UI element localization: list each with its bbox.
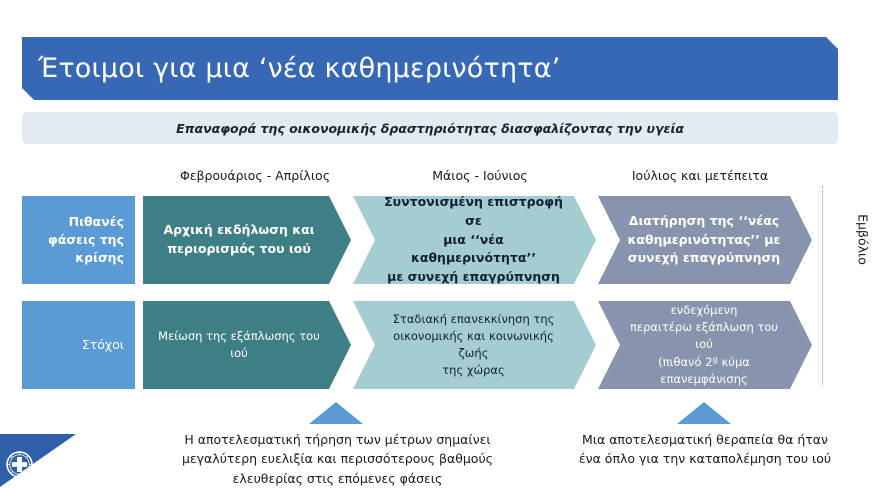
subtitle-band: Επαναφορά της οικονομικής δραστηριότητας… bbox=[22, 112, 838, 144]
phase-cell-r1c3-line-3: συνεχή επαγρύπνηση bbox=[628, 249, 781, 268]
footnote-right: Μια αποτελεσματική θεραπεία θα ήταν ένα … bbox=[545, 430, 865, 469]
greek-coat-of-arms-icon bbox=[6, 451, 33, 478]
goal-cell-r2c2: Σταδιακή επανεκκίνηση της οικονομικής κα… bbox=[353, 301, 596, 389]
row-label-phases-line-3: κρίσης bbox=[48, 249, 124, 267]
phase-cell-r1c2-line-1: Συντονισμένη επιστροφή σε bbox=[381, 193, 566, 231]
phase-cell-r1c1-line-2: περιορισμός του ιού bbox=[163, 240, 314, 259]
goal-cell-r2c3: Προστασία για μια ενδεχόμενη περαιτέρω ε… bbox=[598, 301, 812, 389]
phase-cell-r1c3-text: Διατήρηση της ‘‘νέας καθημερινότητας’’ μ… bbox=[628, 212, 781, 268]
phase-cell-r1c2-line-2: μια ‘‘νέα καθημερινότητα’’ bbox=[381, 231, 566, 269]
phase-cell-r1c2: Συντονισμένη επιστροφή σε μια ‘‘νέα καθη… bbox=[353, 196, 596, 284]
column-header-2: Μάιος - Ιούνιος bbox=[370, 168, 590, 183]
footnote-left-line-3: ελευθερίας στις επόμενες φάσεις bbox=[160, 469, 515, 488]
up-arrow-marker-left-icon bbox=[309, 402, 363, 424]
phase-row-2: Στόχοι Μείωση της εξάπλωσης του ιού Σταδ… bbox=[0, 301, 880, 389]
subtitle-text: Επαναφορά της οικονομικής δραστηριότητας… bbox=[176, 121, 684, 136]
goal-cell-r2c3-line-3: (πιθανό 2º κύμα επανεμφάνισης bbox=[624, 354, 784, 389]
goal-cell-r2c1-line-2: ιού bbox=[158, 345, 320, 362]
goal-cell-r2c3-line-1: Προστασία για μια ενδεχόμενη bbox=[624, 285, 784, 320]
goal-cell-r2c3-line-2: περαιτέρω εξάπλωση του ιού bbox=[624, 319, 784, 354]
row-label-goals: Στόχοι bbox=[22, 301, 135, 389]
goal-cell-r2c1: Μείωση της εξάπλωσης του ιού bbox=[143, 301, 351, 389]
phase-cell-r1c3-line-1: Διατήρηση της ‘‘νέας bbox=[628, 212, 781, 231]
row-label-phases-line-2: φάσεις της bbox=[48, 231, 124, 249]
footnote-left: Η αποτελεσματική τήρηση των μέτρων σημαί… bbox=[160, 430, 515, 488]
goal-cell-r2c3-text: Προστασία για μια ενδεχόμενη περαιτέρω ε… bbox=[624, 285, 784, 406]
vaccine-axis-dotted-line bbox=[822, 186, 823, 386]
column-header-1: Φεβρουάριος - Απρίλιος bbox=[145, 168, 365, 183]
phase-cell-r1c3: Διατήρηση της ‘‘νέας καθημερινότητας’’ μ… bbox=[598, 196, 812, 284]
slide-title-bar: Έτοιμοι για μια ‘νέα καθημερινότητα’ bbox=[22, 37, 838, 100]
footnote-right-line-1: Μια αποτελεσματική θεραπεία θα ήταν bbox=[545, 430, 865, 449]
phase-row-1: Πιθανές φάσεις της κρίσης Αρχική εκδήλωσ… bbox=[0, 196, 880, 284]
row-label-phases: Πιθανές φάσεις της κρίσης bbox=[22, 196, 135, 284]
phase-cell-r1c2-text: Συντονισμένη επιστροφή σε μια ‘‘νέα καθη… bbox=[381, 193, 566, 287]
up-arrow-marker-right-icon bbox=[677, 402, 731, 424]
goal-cell-r2c1-line-1: Μείωση της εξάπλωσης του bbox=[158, 328, 320, 345]
row-label-phases-line-1: Πιθανές bbox=[48, 213, 124, 231]
goal-cell-r2c2-line-1: Σταδιακή επανεκκίνηση της bbox=[381, 311, 566, 328]
footnote-left-line-2: μεγαλύτερη ευελιξία και περισσότερους βα… bbox=[160, 449, 515, 468]
column-header-3: Ιούλιος και μετέπειτα bbox=[590, 168, 810, 183]
phase-cell-r1c1-line-1: Αρχική εκδήλωση και bbox=[163, 221, 314, 240]
footnote-right-line-2: ένα όπλο για την καταπολέμηση του ιού bbox=[545, 449, 865, 468]
footnote-left-line-1: Η αποτελεσματική τήρηση των μέτρων σημαί… bbox=[160, 430, 515, 449]
phase-cell-r1c2-line-3: με συνεχή επαγρύπνηση bbox=[381, 268, 566, 287]
phase-cell-r1c3-line-2: καθημερινότητας’’ με bbox=[628, 231, 781, 250]
goal-cell-r2c1-text: Μείωση της εξάπλωσης του ιού bbox=[158, 328, 320, 363]
greek-government-emblem bbox=[0, 434, 76, 487]
row-label-phases-text: Πιθανές φάσεις της κρίσης bbox=[48, 213, 124, 267]
page-title: Έτοιμοι για μια ‘νέα καθημερινότητα’ bbox=[22, 53, 561, 84]
vaccine-axis-label: Εμβόλιο bbox=[856, 185, 871, 295]
phase-cell-r1c1: Αρχική εκδήλωση και περιορισμός του ιού bbox=[143, 196, 351, 284]
goal-cell-r2c2-text: Σταδιακή επανεκκίνηση της οικονομικής κα… bbox=[381, 311, 566, 380]
row-label-goals-text: Στόχοι bbox=[82, 336, 124, 354]
goal-cell-r2c2-line-2: οικονομικής και κοινωνικής ζωής bbox=[381, 328, 566, 363]
phase-cell-r1c1-text: Αρχική εκδήλωση και περιορισμός του ιού bbox=[163, 221, 314, 259]
goal-cell-r2c2-line-3: της χώρας bbox=[381, 362, 566, 379]
